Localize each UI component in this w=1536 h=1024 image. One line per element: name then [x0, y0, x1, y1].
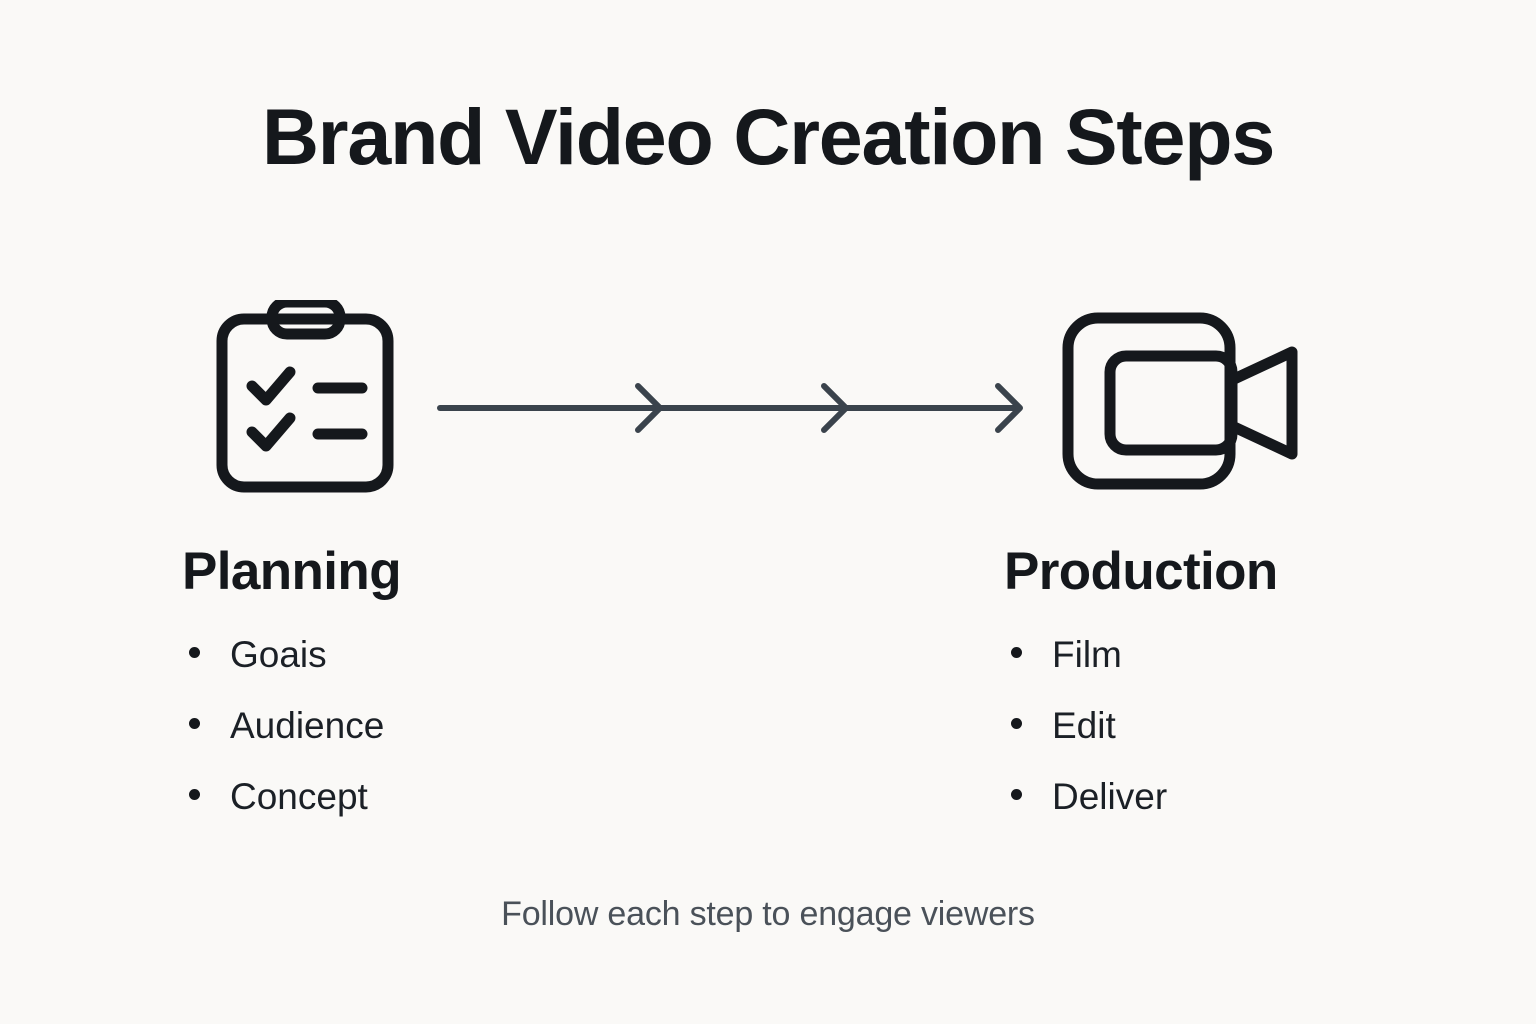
bullet-dot-icon	[189, 647, 200, 658]
footer-caption: Follow each step to engage viewers	[0, 895, 1536, 934]
page-title: Brand Video Creation Steps	[0, 96, 1536, 179]
bullet-dot-icon	[1011, 647, 1022, 658]
bullet-dot-icon	[1011, 789, 1022, 800]
video-camera-icon	[1004, 300, 1424, 505]
list-item: Goais	[182, 636, 602, 673]
list-item-label: Goais	[230, 636, 327, 673]
step-heading-production: Production	[1004, 545, 1424, 598]
list-item: Audience	[182, 707, 602, 744]
list-item-label: Edit	[1052, 707, 1116, 744]
bullet-dot-icon	[189, 789, 200, 800]
bullet-list-production: Film Edit Deliver	[1004, 636, 1424, 815]
list-item: Film	[1004, 636, 1424, 673]
list-item: Concept	[182, 778, 602, 815]
bullet-dot-icon	[189, 718, 200, 729]
list-item-label: Audience	[230, 707, 384, 744]
list-item: Edit	[1004, 707, 1424, 744]
arrow-right-icon	[432, 372, 1032, 449]
list-item: Deliver	[1004, 778, 1424, 815]
slide-canvas: Brand Video Creation Steps Planning	[0, 0, 1536, 1024]
list-item-label: Concept	[230, 778, 368, 815]
step-heading-planning: Planning	[182, 545, 602, 598]
list-item-label: Film	[1052, 636, 1122, 673]
list-item-label: Deliver	[1052, 778, 1167, 815]
bullet-list-planning: Goais Audience Concept	[182, 636, 602, 815]
step-column-production: Production Film Edit Deliver	[1004, 300, 1424, 849]
bullet-dot-icon	[1011, 718, 1022, 729]
